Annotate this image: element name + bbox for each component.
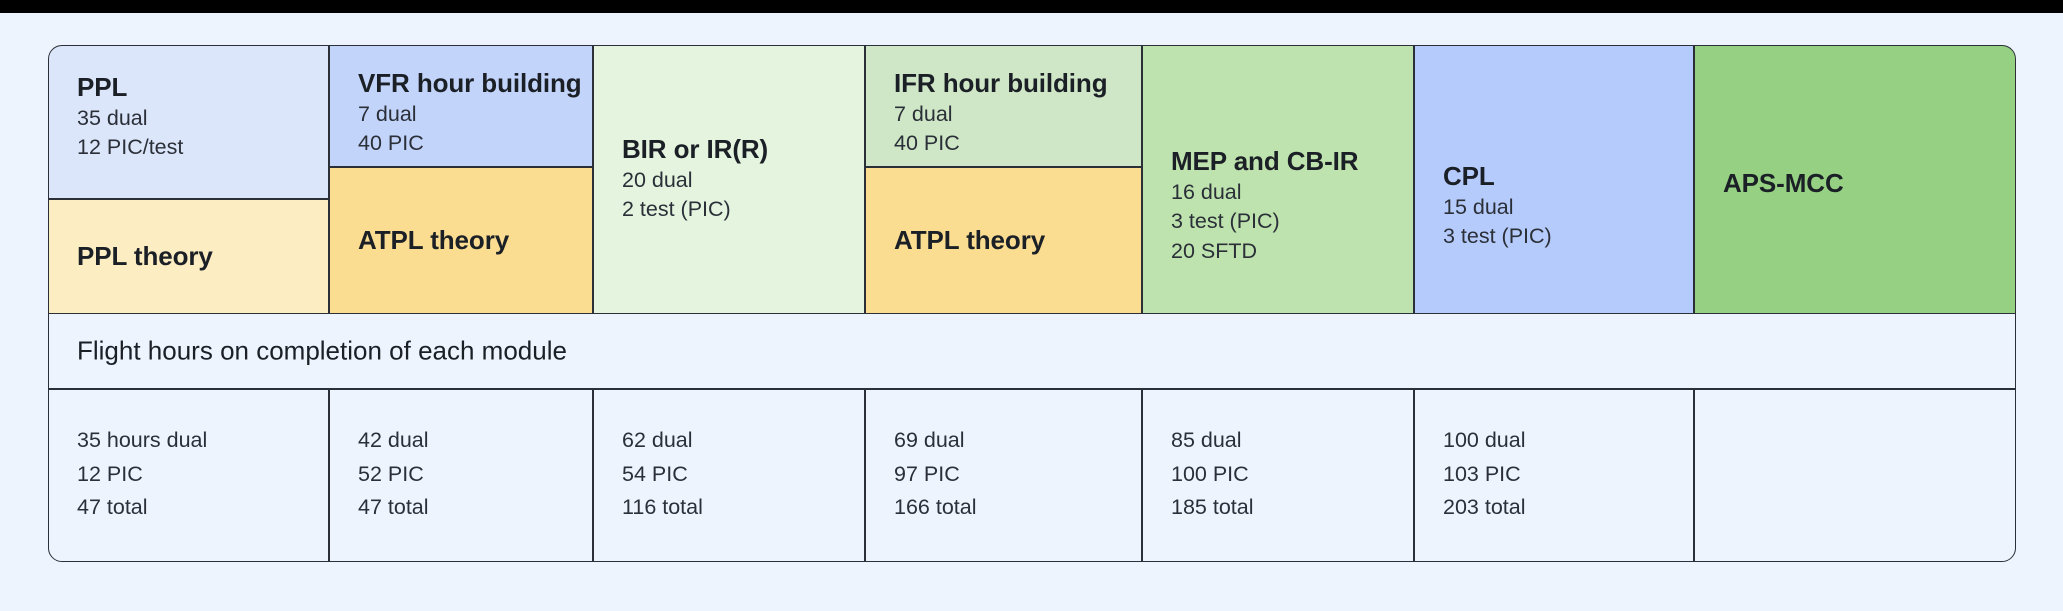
module-title-ppl: PPL	[77, 72, 316, 104]
totals-line-bir-1: 54 PIC	[622, 458, 703, 492]
theory-label-atpl-theory-2: ATPL theory	[894, 225, 1129, 257]
module-block-cpl[interactable]: CPL 15 dual 3 test (PIC)	[1414, 45, 1694, 314]
module-block-vfr-hour-building[interactable]: VFR hour building 7 dual 40 PIC	[329, 45, 593, 167]
totals-cell-vfr-hour-building: 42 dual 52 PIC 47 total	[329, 389, 593, 562]
totals-line-vfr-0: 42 dual	[358, 424, 429, 458]
module-line-cpl-0: 15 dual	[1443, 193, 1681, 223]
totals-line-vfr-1: 52 PIC	[358, 458, 429, 492]
module-title-cpl: CPL	[1443, 161, 1681, 193]
diagram-canvas: PPL 35 dual 12 PIC/test PPL theory VFR h…	[0, 13, 2063, 611]
totals-cell-aps-mcc	[1694, 389, 2016, 562]
training-pathway-chart: PPL 35 dual 12 PIC/test PPL theory VFR h…	[48, 45, 2016, 562]
module-block-mep-and-cb-ir[interactable]: MEP and CB-IR 16 dual 3 test (PIC) 20 SF…	[1142, 45, 1414, 314]
totals-line-ifr-1: 97 PIC	[894, 458, 976, 492]
module-title-vfr-hour-building: VFR hour building	[358, 68, 580, 100]
totals-line-vfr-2: 47 total	[358, 491, 429, 525]
theory-block-atpl-theory-2[interactable]: ATPL theory	[865, 167, 1142, 314]
totals-line-ppl-2: 47 total	[77, 491, 207, 525]
theory-label-ppl-theory: PPL theory	[77, 241, 316, 273]
module-title-bir-or-ir-r: BIR or IR(R)	[622, 134, 852, 166]
module-line-mep-2: 20 SFTD	[1171, 237, 1401, 267]
totals-cell-ifr-hour-building: 69 dual 97 PIC 166 total	[865, 389, 1142, 562]
totals-line-ppl-0: 35 hours dual	[77, 424, 207, 458]
module-line-bir-0: 20 dual	[622, 166, 852, 196]
theory-block-ppl-theory[interactable]: PPL theory	[48, 199, 329, 314]
totals-line-bir-0: 62 dual	[622, 424, 703, 458]
flight-hours-band: Flight hours on completion of each modul…	[48, 313, 2016, 389]
module-title-ifr-hour-building: IFR hour building	[894, 68, 1129, 100]
module-line-ppl-0: 35 dual	[77, 104, 316, 134]
flight-hours-band-label: Flight hours on completion of each modul…	[77, 336, 567, 367]
module-line-ifr-1: 40 PIC	[894, 129, 1129, 159]
top-black-bar	[0, 0, 2063, 13]
totals-line-ifr-0: 69 dual	[894, 424, 976, 458]
totals-line-mep-2: 185 total	[1171, 491, 1253, 525]
totals-line-cpl-1: 103 PIC	[1443, 458, 1526, 492]
totals-line-ppl-1: 12 PIC	[77, 458, 207, 492]
module-block-ppl[interactable]: PPL 35 dual 12 PIC/test	[48, 45, 329, 199]
totals-line-mep-1: 100 PIC	[1171, 458, 1253, 492]
totals-cell-mep-and-cb-ir: 85 dual 100 PIC 185 total	[1142, 389, 1414, 562]
module-block-aps-mcc[interactable]: APS-MCC	[1694, 45, 2016, 314]
theory-label-atpl-theory-1: ATPL theory	[358, 225, 580, 257]
theory-block-atpl-theory-1[interactable]: ATPL theory	[329, 167, 593, 314]
module-block-bir-or-ir-r[interactable]: BIR or IR(R) 20 dual 2 test (PIC)	[593, 45, 865, 314]
totals-cell-ppl: 35 hours dual 12 PIC 47 total	[48, 389, 329, 562]
module-line-vfr-0: 7 dual	[358, 100, 580, 130]
module-line-bir-1: 2 test (PIC)	[622, 195, 852, 225]
totals-cell-bir-or-ir-r: 62 dual 54 PIC 116 total	[593, 389, 865, 562]
totals-line-cpl-2: 203 total	[1443, 491, 1526, 525]
module-line-mep-0: 16 dual	[1171, 178, 1401, 208]
module-line-cpl-1: 3 test (PIC)	[1443, 222, 1681, 252]
module-title-aps-mcc: APS-MCC	[1723, 168, 2003, 200]
totals-line-ifr-2: 166 total	[894, 491, 976, 525]
module-line-vfr-1: 40 PIC	[358, 129, 580, 159]
totals-cell-cpl: 100 dual 103 PIC 203 total	[1414, 389, 1694, 562]
module-line-mep-1: 3 test (PIC)	[1171, 207, 1401, 237]
totals-line-cpl-0: 100 dual	[1443, 424, 1526, 458]
module-block-ifr-hour-building[interactable]: IFR hour building 7 dual 40 PIC	[865, 45, 1142, 167]
totals-line-bir-2: 116 total	[622, 491, 703, 525]
module-line-ifr-0: 7 dual	[894, 100, 1129, 130]
totals-line-mep-0: 85 dual	[1171, 424, 1253, 458]
module-title-mep-and-cb-ir: MEP and CB-IR	[1171, 146, 1401, 178]
module-line-ppl-1: 12 PIC/test	[77, 133, 316, 163]
